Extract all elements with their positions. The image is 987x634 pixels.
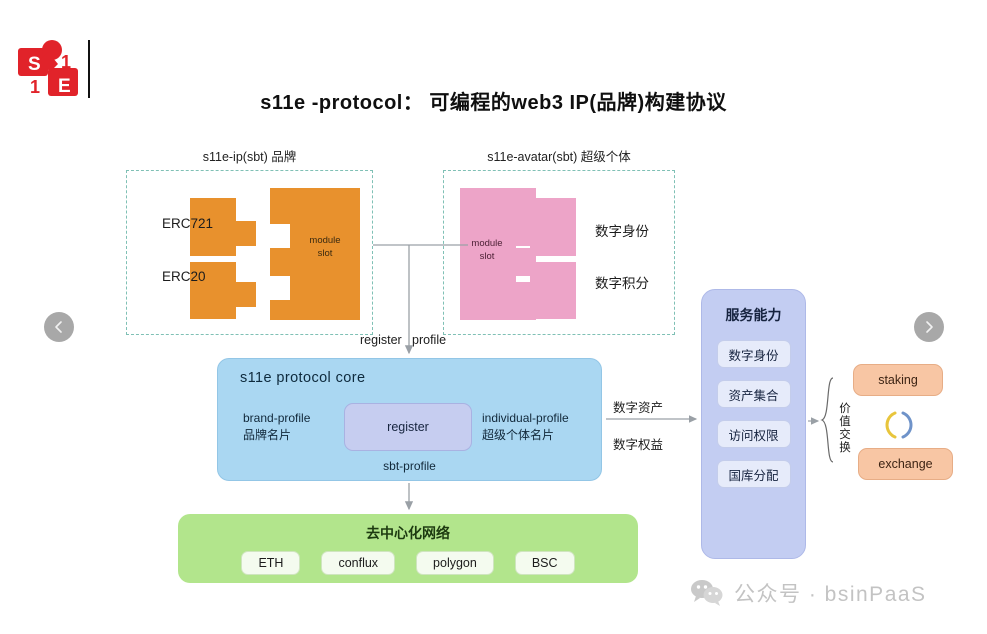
service-capability-list: 数字身份 资产集合 访问权限 国库分配 [701,340,806,488]
avatar-module-slot-line2: slot [462,251,512,264]
service-capability-title: 服务能力 [701,305,806,325]
asset-flow-label-1: 数字资产 [613,397,663,416]
value-exchange-brace [820,377,836,463]
circular-swap-icon [882,408,916,442]
chain-chip-eth[interactable]: ETH [241,551,300,575]
avatar-item-identity: 数字身份 [595,220,649,240]
value-exchange-label: 价 值 交 换 [838,403,852,455]
chain-chip-polygon[interactable]: polygon [416,551,494,575]
ve-char-0: 价 [838,403,852,416]
service-item-identity[interactable]: 数字身份 [717,340,791,368]
individual-profile-en: individual-profile [482,410,569,427]
avatar-module-slot-line1: module [462,238,512,251]
chevron-left-icon [52,320,66,334]
register-module-button[interactable]: register [344,403,472,451]
logo-letter-1a: 1 [61,52,71,72]
carousel-next-button[interactable] [914,312,944,342]
exchange-button[interactable]: exchange [858,448,953,480]
connector-label-profile: profile [412,333,446,347]
brand-profile-en: brand-profile [243,410,310,427]
chain-chip-bsc[interactable]: BSC [515,551,575,575]
chain-chip-row: ETH conflux polygon BSC [178,551,638,575]
avatar-group-label: s11e-avatar(sbt) 超级个体 [430,146,688,165]
ve-char-2: 交 [838,429,852,442]
chevron-right-icon [922,320,936,334]
ip-item-erc20: ERC20 [162,269,206,284]
ip-item-erc721: ERC721 [162,216,213,231]
watermark-text: 公众号 · bsinPaaS [734,578,927,608]
service-item-access[interactable]: 访问权限 [717,420,791,448]
ve-char-3: 换 [838,442,852,455]
wechat-icon [690,579,724,607]
brand-profile-cn: 品牌名片 [243,427,310,444]
watermark: 公众号 · bsinPaaS [690,578,927,608]
chain-chip-conflux[interactable]: conflux [321,551,395,575]
individual-profile-cn: 超级个体名片 [482,427,569,444]
ip-group-label: s11e-ip(sbt) 品牌 [126,146,373,165]
page-title: s11e -protocol： 可编程的web3 IP(品牌)构建协议 [0,86,987,115]
logo-letter-s: S [28,54,41,75]
protocol-core-title: s11e protocol core [240,370,365,386]
ip-module-slot-line2: slot [300,248,350,261]
staking-button[interactable]: staking [853,364,943,396]
brand-profile-label: brand-profile 品牌名片 [243,410,310,445]
individual-profile-label: individual-profile 超级个体名片 [482,410,569,445]
service-item-treasury[interactable]: 国库分配 [717,460,791,488]
asset-flow-label-2: 数字权益 [613,434,663,453]
diagram-canvas: S 1 1 E s11e -protocol： 可编程的web3 IP(品牌)构… [0,0,987,634]
ip-module-slot-line1: module [300,235,350,248]
avatar-item-points: 数字积分 [595,272,649,292]
ve-char-1: 值 [838,416,852,429]
service-item-asset-set[interactable]: 资产集合 [717,380,791,408]
connector-label-register: register [360,333,402,347]
decentralized-network-title: 去中心化网络 [178,523,638,543]
sbt-profile-footer: sbt-profile [217,459,602,473]
carousel-prev-button[interactable] [44,312,74,342]
